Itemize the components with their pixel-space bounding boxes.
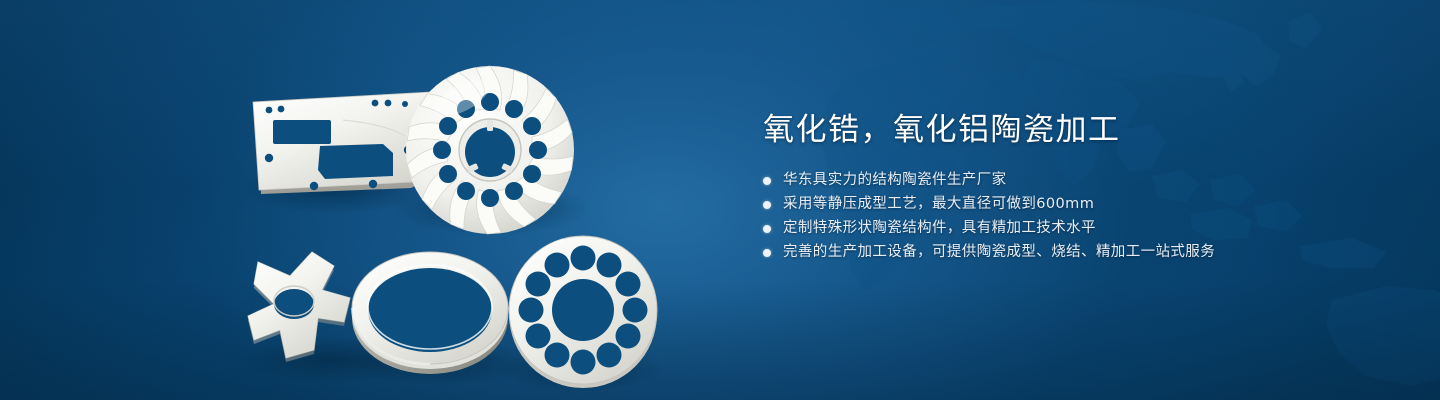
product-ceramic-ring (352, 252, 508, 374)
list-item: 采用等静压成型工艺，最大直径可做到600mm (763, 193, 1323, 216)
list-item: 华东具实力的结构陶瓷件生产厂家 (763, 169, 1323, 192)
list-item-label: 完善的生产加工设备，可提供陶瓷成型、烧结、精加工一站式服务 (783, 241, 1215, 264)
list-item-label: 华东具实力的结构陶瓷件生产厂家 (783, 169, 1007, 192)
list-item-label: 采用等静压成型工艺，最大直径可做到600mm (783, 193, 1094, 216)
bullet-dot-icon (763, 177, 771, 185)
product-ceramic-perforated-disc (509, 236, 657, 388)
product-ceramic-impeller (405, 66, 575, 234)
hero-banner: 氧化锆，氧化铝陶瓷加工 华东具实力的结构陶瓷件生产厂家 采用等静压成型工艺，最大… (0, 0, 1440, 400)
list-item-label: 定制特殊形状陶瓷结构件，具有精加工技术水平 (783, 217, 1096, 240)
bullet-dot-icon (763, 249, 771, 257)
list-item: 定制特殊形状陶瓷结构件，具有精加工技术水平 (763, 217, 1323, 240)
feature-list: 华东具实力的结构陶瓷件生产厂家 采用等静压成型工艺，最大直径可做到600mm 定… (763, 169, 1323, 264)
page-title: 氧化锆，氧化铝陶瓷加工 (763, 108, 1323, 152)
product-photo-cluster (225, 40, 725, 380)
list-item: 完善的生产加工设备，可提供陶瓷成型、烧结、精加工一站式服务 (763, 241, 1323, 264)
bullet-dot-icon (763, 201, 771, 209)
bullet-dot-icon (763, 225, 771, 233)
banner-copy: 氧化锆，氧化铝陶瓷加工 华东具实力的结构陶瓷件生产厂家 采用等静压成型工艺，最大… (763, 108, 1323, 265)
